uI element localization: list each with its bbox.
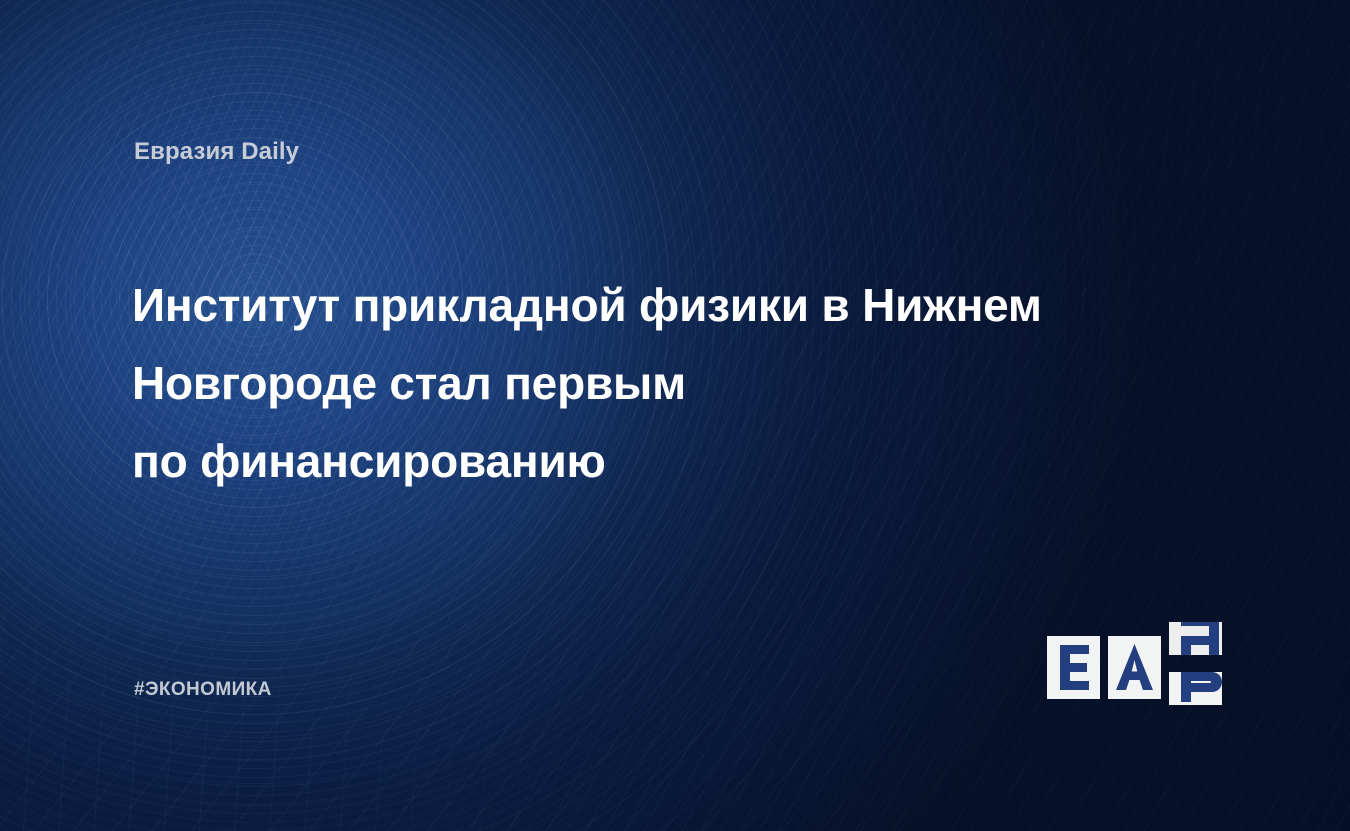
letter-d-upper-half [1169,622,1222,655]
logo-tile-a [1108,636,1161,699]
letter-a-icon [1108,636,1161,699]
letter-d-split-icon-lower [1169,672,1222,705]
ead-logo [1047,636,1223,699]
headline-line-2: Новгороде стал первым [132,344,1242,422]
letter-e-icon [1047,636,1100,699]
share-card: Евразия Daily Институт прикладной физики… [0,0,1350,831]
headline-line-3: по финансированию [132,422,1242,500]
brand-name: Евразия Daily [134,138,299,166]
letter-d-split-icon [1169,622,1222,655]
logo-tile-e [1047,636,1100,699]
logo-tile-d [1169,636,1222,699]
headline: Институт прикладной физики в Нижнем Новг… [132,266,1242,500]
letter-d-lower-half [1169,672,1222,705]
category-hashtag: #ЭКОНОМИКА [134,679,272,701]
headline-line-1: Институт прикладной физики в Нижнем [132,266,1242,344]
card-content: Евразия Daily Институт прикладной физики… [0,0,1350,831]
